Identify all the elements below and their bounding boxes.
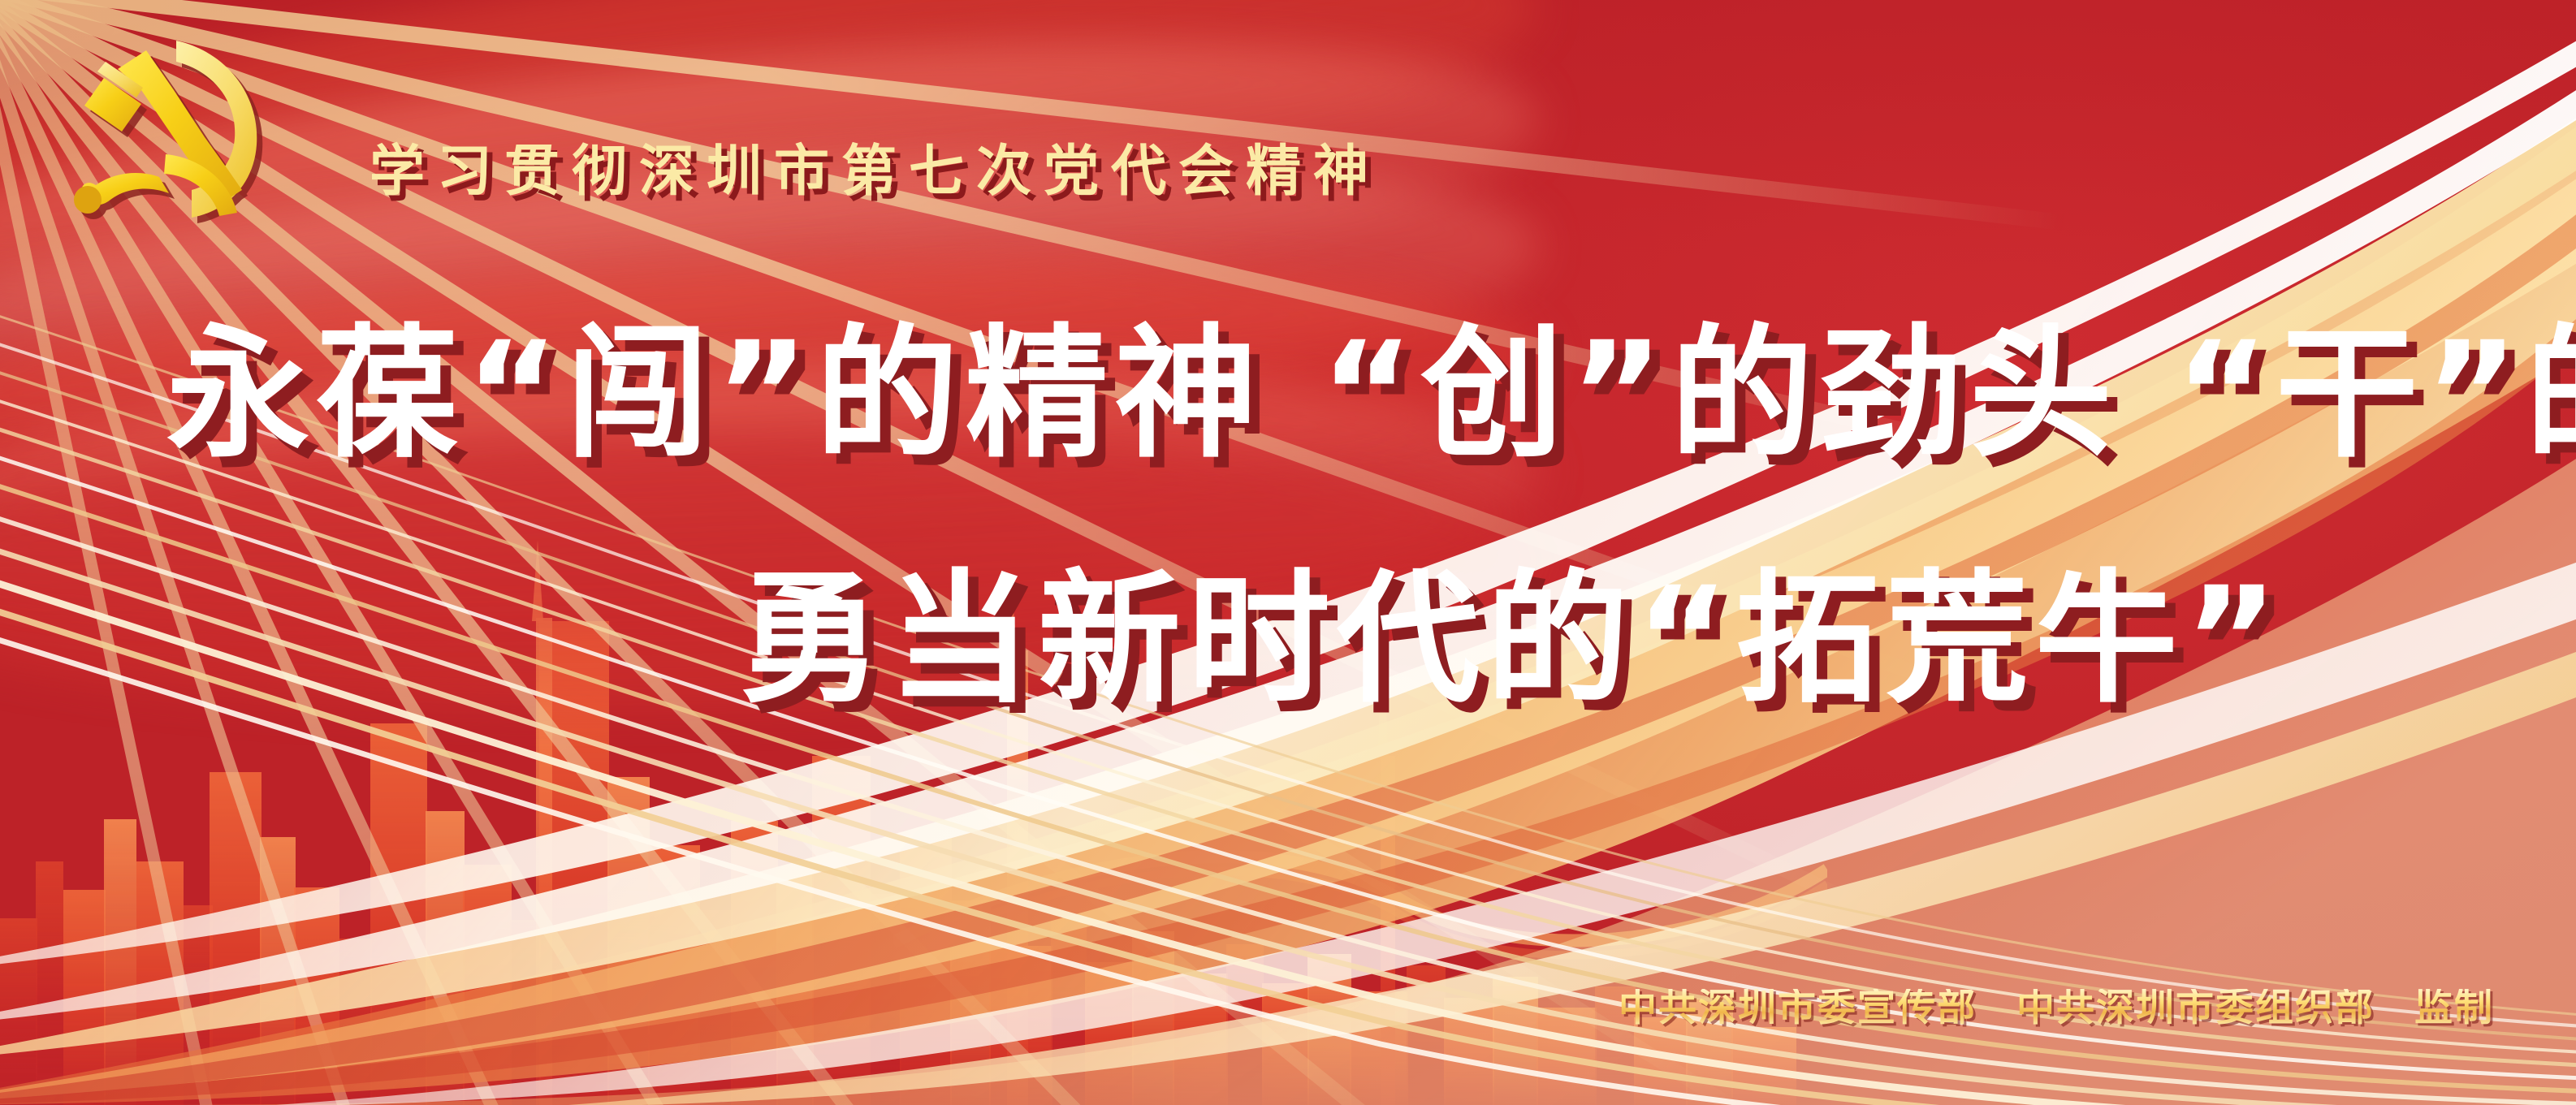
credit-line: 中共深圳市委宣传部 中共深圳市委组织部 监制	[1619, 989, 2494, 1027]
hammer-and-sickle-emblem	[68, 31, 271, 240]
emblem-svg	[68, 31, 271, 240]
poster-canvas: 学习贯彻深圳市第七次党代会精神 永葆“闯”的精神 “创”的劲头 “干”的作风 勇…	[0, 0, 2576, 1105]
headline-line-2: 勇当新时代的“拓荒牛”	[739, 568, 2284, 711]
sickle-handle-knob	[74, 186, 102, 214]
kicker-slogan: 学习贯彻深圳市第七次党代会精神	[370, 145, 1381, 200]
headline-line-1: 永葆“闯”的精神 “创”的劲头 “干”的作风	[166, 323, 2576, 466]
